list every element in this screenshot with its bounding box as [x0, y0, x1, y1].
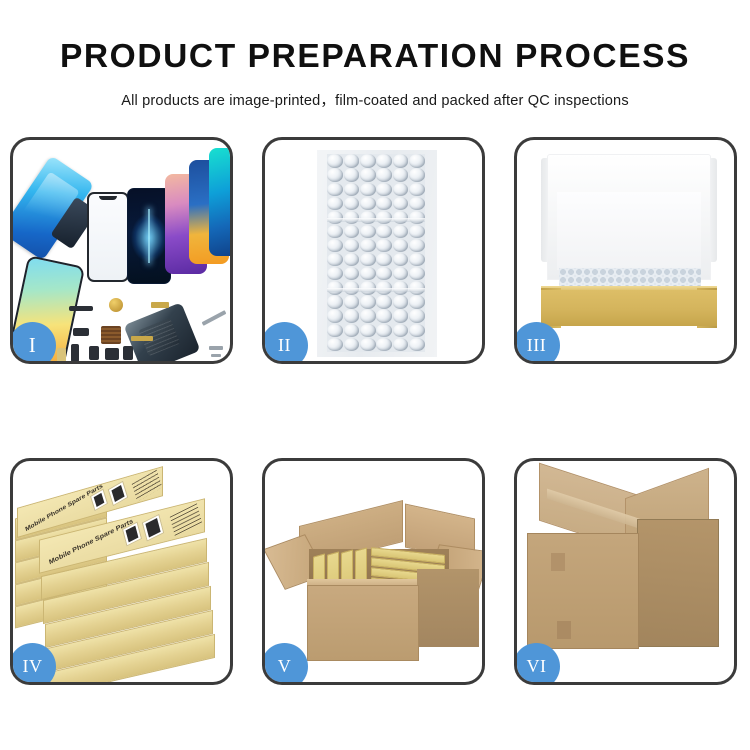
- bubble: [360, 183, 376, 196]
- tempered-glass-protector: [87, 192, 129, 282]
- bubble: [327, 295, 343, 308]
- bubble: [327, 324, 343, 337]
- camera-module-part: [105, 348, 119, 360]
- bubble: [344, 253, 360, 266]
- step-panel-6: VI: [514, 458, 737, 685]
- bubble: [360, 154, 376, 167]
- product-preparation-infographic: PRODUCT PREPARATION PROCESS All products…: [0, 0, 750, 750]
- bubble: [376, 197, 392, 210]
- bubble: [327, 154, 343, 167]
- bubble: [344, 309, 360, 322]
- bubble: [393, 324, 409, 337]
- bubble: [376, 253, 392, 266]
- bubble: [360, 253, 376, 266]
- bubble: [393, 295, 409, 308]
- bubble: [360, 295, 376, 308]
- bubble: [409, 239, 425, 252]
- bag-seal-line-2: [327, 288, 425, 292]
- bubble: [360, 267, 376, 280]
- bubble: [327, 239, 343, 252]
- bubble: [344, 197, 360, 210]
- bubble: [376, 309, 392, 322]
- step-panel-3: III: [514, 137, 737, 364]
- bubble: [409, 309, 425, 322]
- bubble: [360, 168, 376, 181]
- bubble: [327, 338, 343, 351]
- bubble: [344, 154, 360, 167]
- bubble: [344, 225, 360, 238]
- bubble: [376, 338, 392, 351]
- bubble: [393, 197, 409, 210]
- connector-part-2: [71, 344, 79, 361]
- bubble: [327, 253, 343, 266]
- step-badge-4: IV: [10, 643, 56, 685]
- bubble: [360, 324, 376, 337]
- earpiece-mesh-part: [69, 306, 93, 311]
- bubble: [376, 267, 392, 280]
- mesh-chip-part: [101, 326, 121, 344]
- bubble: [409, 324, 425, 337]
- bag-seal-line-1: [327, 218, 425, 222]
- sealed-carton-side: [637, 519, 719, 647]
- steps-grid: I II III: [10, 137, 738, 687]
- bubble: [344, 295, 360, 308]
- step-badge-5: V: [262, 643, 308, 685]
- bubble: [393, 225, 409, 238]
- bubble: [376, 168, 392, 181]
- bubble: [393, 267, 409, 280]
- carton-seam-bottom: [557, 621, 571, 639]
- bubble: [344, 183, 360, 196]
- bubble: [360, 197, 376, 210]
- vibrator-part: [123, 346, 133, 360]
- bubble: [409, 338, 425, 351]
- teal-gradient-screen: [209, 148, 230, 256]
- bubble: [360, 239, 376, 252]
- screw-part-1: [209, 346, 223, 350]
- header: PRODUCT PREPARATION PROCESS All products…: [0, 0, 750, 110]
- battery-part: [57, 348, 66, 361]
- bubble: [409, 267, 425, 280]
- carton-seam-top: [551, 553, 565, 571]
- carton-side-panel: [417, 569, 479, 647]
- bubble: [409, 253, 425, 266]
- bubble: [344, 338, 360, 351]
- bubble: [327, 183, 343, 196]
- bubble: [393, 239, 409, 252]
- carton-front-panel: [307, 585, 419, 661]
- bubble: [409, 154, 425, 167]
- bubble: [344, 324, 360, 337]
- step-panel-2: II: [262, 137, 485, 364]
- bubble: [376, 239, 392, 252]
- flex-cable-part-2: [131, 336, 153, 341]
- connector-part-1: [73, 328, 89, 336]
- bubble: [393, 154, 409, 167]
- page-title: PRODUCT PREPARATION PROCESS: [0, 0, 750, 74]
- bubble: [393, 183, 409, 196]
- bubble: [327, 168, 343, 181]
- bubble: [376, 295, 392, 308]
- foam-insert: [557, 192, 701, 270]
- page-subtitle: All products are image-printed，film-coat…: [0, 74, 750, 110]
- bubble: [327, 267, 343, 280]
- screw-part-2: [211, 354, 221, 357]
- step-panel-4: Mobile Phone Spare Parts Mobile Phone Sp…: [10, 458, 233, 685]
- bubble: [376, 154, 392, 167]
- bubble: [327, 225, 343, 238]
- connector-part-3: [89, 346, 99, 360]
- bubble: [344, 267, 360, 280]
- bubble: [409, 183, 425, 196]
- bubble: [409, 197, 425, 210]
- speaker-coin-part: [109, 298, 123, 312]
- tweezers-tool: [202, 310, 227, 326]
- bubble: [393, 309, 409, 322]
- bubble-wrap-sheet: [327, 154, 425, 352]
- phone-back-housing: [124, 302, 201, 361]
- step-panel-1: I: [10, 137, 233, 364]
- bubble: [360, 225, 376, 238]
- bubble: [360, 338, 376, 351]
- bubble: [409, 168, 425, 181]
- step-badge-6: VI: [514, 643, 560, 685]
- step-panel-5: V: [262, 458, 485, 685]
- step-badge-2: II: [262, 322, 308, 364]
- bubble: [376, 183, 392, 196]
- bubble: [393, 338, 409, 351]
- step-badge-1: I: [10, 322, 56, 364]
- step-badge-3: III: [514, 322, 560, 364]
- bubble: [393, 168, 409, 181]
- bubble: [376, 225, 392, 238]
- flex-cable-part-1: [151, 302, 169, 308]
- bubble: [409, 295, 425, 308]
- bubble: [376, 324, 392, 337]
- bubble: [409, 225, 425, 238]
- bubble: [344, 239, 360, 252]
- box-wall-front: [541, 290, 717, 326]
- bubble: [393, 253, 409, 266]
- bubble: [327, 197, 343, 210]
- bubble: [344, 168, 360, 181]
- bubble: [327, 309, 343, 322]
- sealed-carton-front: [527, 533, 639, 649]
- bubble: [360, 309, 376, 322]
